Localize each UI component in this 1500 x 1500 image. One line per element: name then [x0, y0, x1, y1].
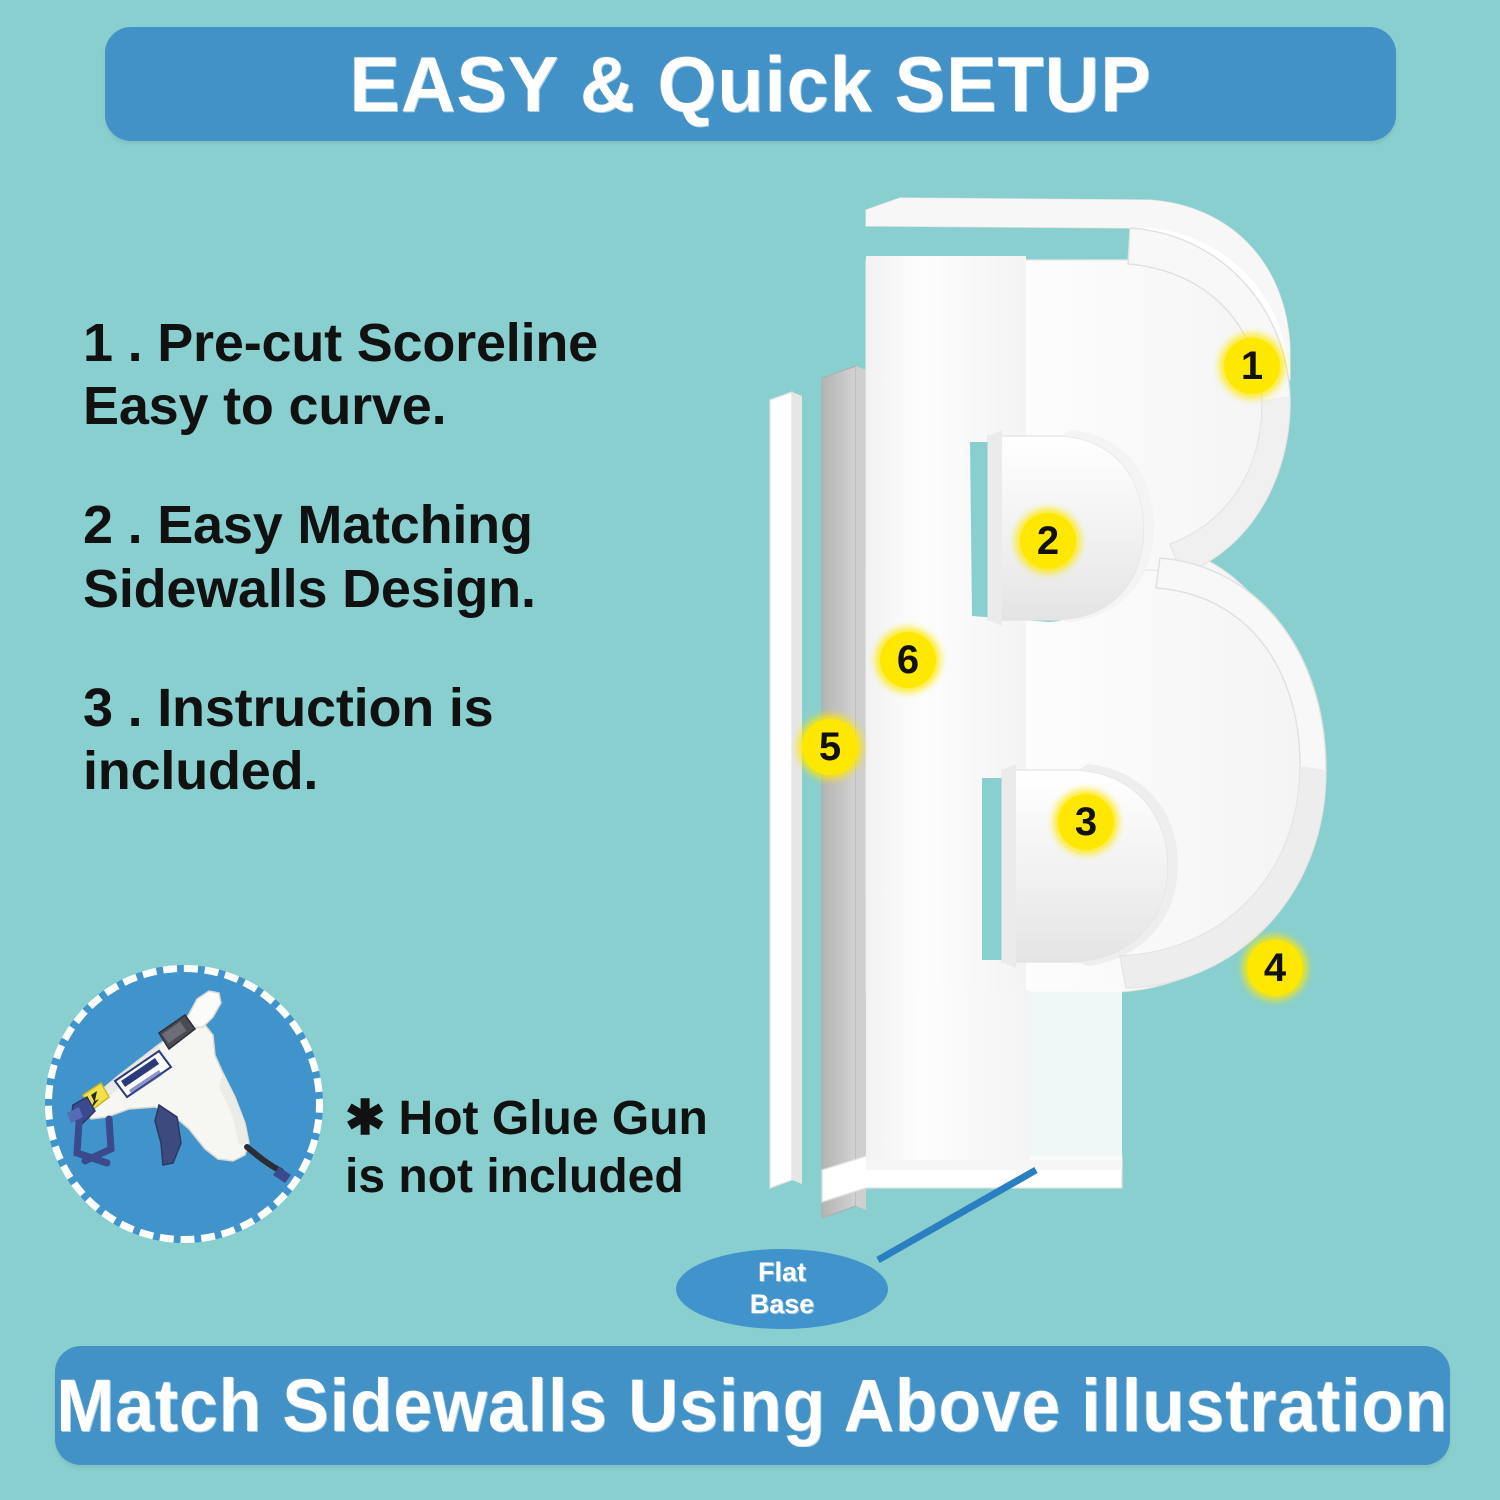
badge-3[interactable]: 3 — [1058, 794, 1114, 850]
letter-flat-base-sidewall — [822, 1156, 1122, 1202]
badge-4[interactable]: 4 — [1247, 940, 1303, 996]
glue-gun-note: ✱ Hot Glue Gun is not included — [45, 965, 725, 1255]
badge-2[interactable]: 2 — [1020, 513, 1076, 569]
instruction-item-3: 3 . Instruction is included. — [83, 677, 703, 803]
hot-glue-gun-icon — [63, 977, 303, 1227]
sidewall-strip-left — [770, 392, 802, 1188]
bottom-banner: Match Sidewalls Using Above illustration — [55, 1346, 1450, 1465]
badge-6[interactable]: 6 — [880, 632, 936, 688]
flat-base-callout-line2: Base — [750, 1289, 815, 1321]
top-banner-title: EASY & Quick SETUP — [349, 39, 1151, 130]
letter-back-sidewall — [822, 366, 866, 1218]
glue-gun-note-line1: ✱ Hot Glue Gun — [345, 1090, 735, 1148]
glue-gun-note-text: ✱ Hot Glue Gun is not included — [345, 1090, 735, 1205]
badge-1[interactable]: 1 — [1224, 338, 1280, 394]
poster-canvas: EASY & Quick SETUP 1 . Pre-cut Scoreline… — [0, 0, 1500, 1500]
instruction-item-1: 1 . Pre-cut Scoreline Easy to curve. — [83, 312, 703, 438]
top-banner: EASY & Quick SETUP — [105, 27, 1396, 141]
flat-base-callout-line1: Flat — [758, 1257, 806, 1289]
instruction-list: 1 . Pre-cut Scoreline Easy to curve. 2 .… — [83, 312, 703, 803]
flat-base-callout: Flat Base — [676, 1249, 888, 1329]
glue-gun-note-line2: is not included — [345, 1148, 735, 1206]
bottom-banner-title: Match Sidewalls Using Above illustration — [57, 1363, 1449, 1448]
instruction-item-2: 2 . Easy Matching Sidewalls Design. — [83, 494, 703, 620]
letter-b-illustration — [730, 170, 1370, 1260]
badge-5[interactable]: 5 — [802, 719, 858, 775]
